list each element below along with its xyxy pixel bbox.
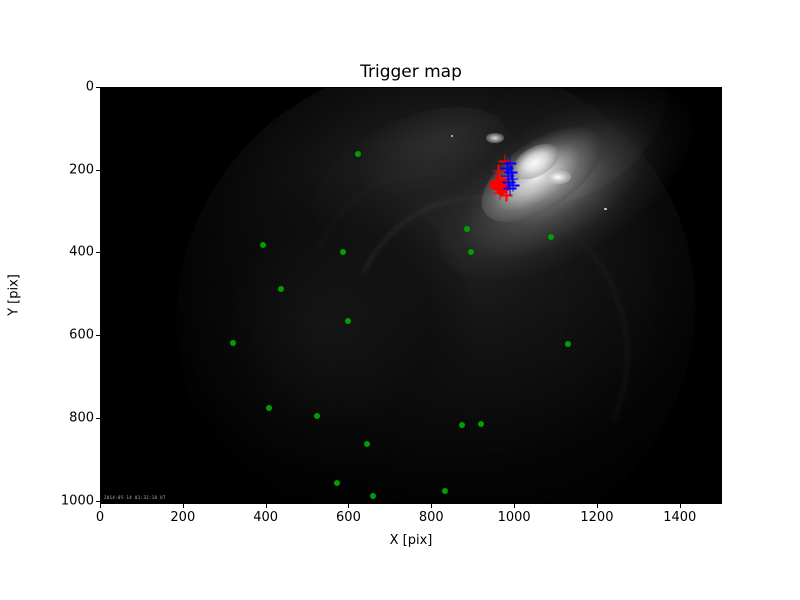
y-axis-label: Y [pix] (7, 274, 22, 316)
x-axis-tick (680, 504, 681, 508)
y-axis-tick-label: 400 (69, 245, 94, 260)
bright-streak-outer (408, 87, 722, 319)
y-axis-tick-label: 0 (86, 80, 94, 95)
image-vignette (100, 87, 722, 504)
y-axis-tick (96, 252, 100, 253)
x-axis-tick (348, 504, 349, 508)
galaxy-left-halo-glow (156, 148, 504, 500)
x-axis-tick (514, 504, 515, 508)
nebula-plume-ne (451, 87, 707, 239)
x-axis-tick-label: 0 (96, 510, 104, 525)
y-axis-tick (96, 87, 100, 88)
camera-timestamp-burnin: 2014-05-14 01:32:18 UT (104, 495, 166, 500)
x-axis-tick-label: 800 (419, 510, 444, 525)
x-axis-tick (431, 504, 432, 508)
y-axis-tick-label: 200 (69, 162, 94, 177)
dust-lane-arc-inner (270, 133, 603, 476)
bright-streak-inner (466, 109, 617, 241)
x-axis-tick-label: 1200 (580, 510, 613, 525)
plot-area[interactable]: 2014-05-14 01:32:18 UT (100, 87, 722, 504)
y-axis-tick-label: 600 (69, 328, 94, 343)
bright-knot-c (486, 133, 505, 143)
y-axis-tick (96, 501, 100, 502)
y-axis-tick (96, 170, 100, 171)
page-title: Trigger map (100, 62, 722, 82)
x-axis-tick (597, 504, 598, 508)
x-axis-tick-label: 400 (253, 510, 278, 525)
figure-canvas: Trigger map 2014-05-14 01:32:18 UT 02004… (0, 0, 800, 600)
x-axis-label: X [pix] (100, 533, 722, 548)
star-speck (451, 135, 453, 137)
x-axis-tick (183, 504, 184, 508)
x-axis-tick-label: 600 (336, 510, 361, 525)
galaxy-halo-glow (100, 87, 722, 504)
bright-knot-b (545, 170, 571, 183)
x-axis-tick (100, 504, 101, 508)
sky-background-image: 2014-05-14 01:32:18 UT (100, 87, 722, 504)
x-axis-tick (266, 504, 267, 508)
x-axis-tick-label: 200 (170, 510, 195, 525)
y-axis-tick (96, 335, 100, 336)
y-axis-tick-label: 1000 (61, 493, 94, 508)
star-speck (604, 208, 607, 210)
x-axis-tick-label: 1400 (663, 510, 696, 525)
dust-lane-arc-outer (309, 160, 667, 504)
x-axis-tick-label: 1000 (498, 510, 531, 525)
nebula-plume-sw (292, 87, 530, 270)
bright-core-knot (507, 137, 565, 187)
y-axis-tick (96, 418, 100, 419)
y-axis-tick-label: 800 (69, 410, 94, 425)
